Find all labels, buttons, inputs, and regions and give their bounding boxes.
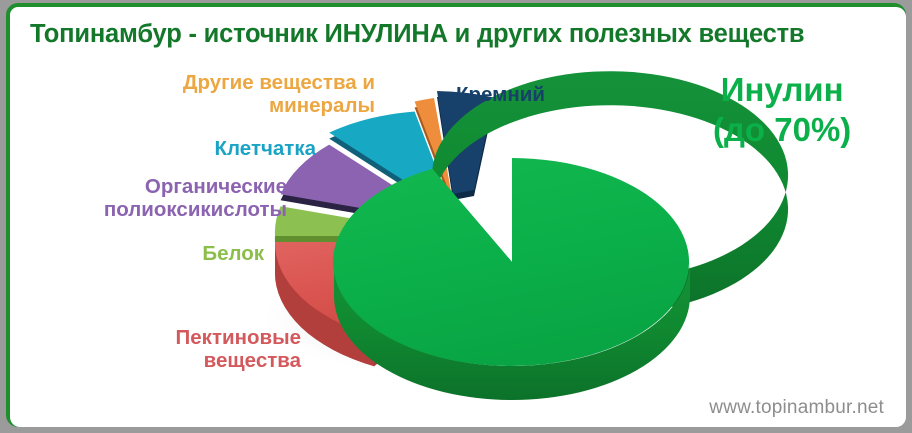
label-fiber: Клетчатка: [215, 138, 316, 161]
watermark-url: www.topinambur.net: [709, 397, 884, 419]
label-silicon: Кремний: [456, 84, 545, 107]
label-pectin: Пектиновые вещества: [176, 327, 301, 373]
infographic-root: Топинамбур - источник ИНУЛИНА и других п…: [0, 0, 912, 433]
label-inulin: Инулин (до 70%): [713, 70, 851, 151]
label-protein: Белок: [202, 243, 264, 266]
label-organic-acids: Органические полиоксикислоты: [104, 176, 287, 222]
label-other-substances: Другие вещества и минералы: [183, 72, 375, 118]
